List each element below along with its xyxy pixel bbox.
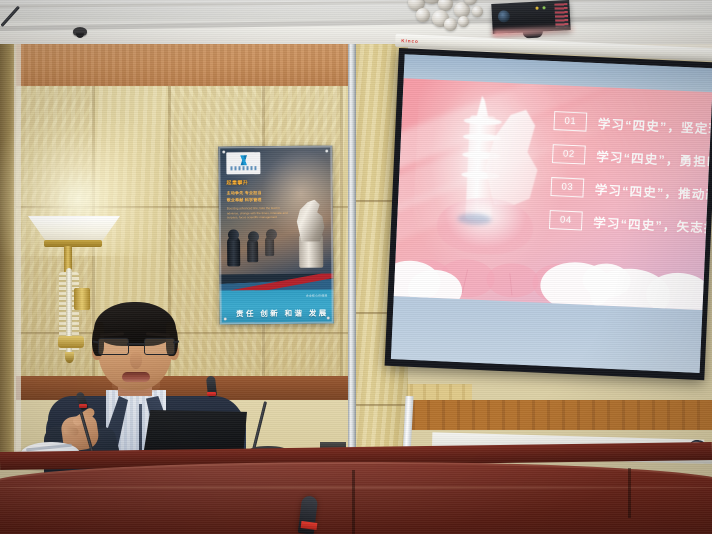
- lecture-hall-photo: 起重攀升 主动争先 专业担当 敬业奉献 科学管理 Boosting advanc…: [0, 0, 712, 534]
- podium-front-panel: [0, 462, 712, 534]
- slide-item-text: 学习“四史”，矢志拼搏奋斗: [593, 212, 712, 238]
- metal-trim-strip: [348, 40, 356, 460]
- screen-brand-label: Kinco: [401, 38, 419, 44]
- ceiling-projector: [491, 0, 570, 34]
- list-item: 04 学习“四史”，矢志拼搏奋斗: [549, 206, 707, 239]
- list-item: 01 学习“四史”，坚定理想信念: [553, 107, 711, 140]
- microphone-indicator-ring: [207, 392, 216, 396]
- slide-item-list: 01 学习“四史”，坚定理想信念 02 学习“四史”，勇担时代使命 03 学习“…: [548, 107, 711, 246]
- presentation-slide: 01 学习“四史”，坚定理想信念 02 学习“四史”，勇担时代使命 03 学习“…: [394, 78, 712, 310]
- slide-item-text: 学习“四史”，坚定理想信念: [597, 113, 712, 139]
- slide-item-number: 01: [553, 111, 587, 131]
- slide-item-number: 02: [552, 144, 586, 164]
- projector-vent: [554, 3, 568, 28]
- wall-poster: 起重攀升 主动争先 专业担当 敬业奉献 科学管理 Boosting advanc…: [218, 146, 334, 325]
- screen-frame: 01 学习“四史”，坚定理想信念 02 学习“四史”，勇担时代使命 03 学习“…: [385, 48, 712, 380]
- screen-surface: 01 学习“四史”，坚定理想信念 02 学习“四史”，勇担时代使命 03 学习“…: [391, 54, 712, 373]
- slide-item-number: 03: [550, 177, 584, 197]
- right-wall-wainscot: [400, 400, 712, 430]
- microphone-indicator-ring: [79, 404, 87, 408]
- slide-item-number: 04: [549, 210, 583, 230]
- slide-item-text: 学习“四史”，勇担时代使命: [596, 146, 712, 172]
- projection-screen: Kinco: [385, 48, 712, 380]
- slide-item-text: 学习“四史”，推动改革发展: [594, 179, 712, 205]
- projector-lens-icon: [498, 10, 511, 23]
- screen-lower-margin: [391, 297, 702, 373]
- ceiling: [0, 0, 712, 44]
- smoke-detector-icon: [73, 27, 87, 36]
- list-item: 02 学习“四史”，勇担时代使命: [552, 140, 710, 173]
- list-item: 03 学习“四史”，推动改革发展: [550, 173, 708, 206]
